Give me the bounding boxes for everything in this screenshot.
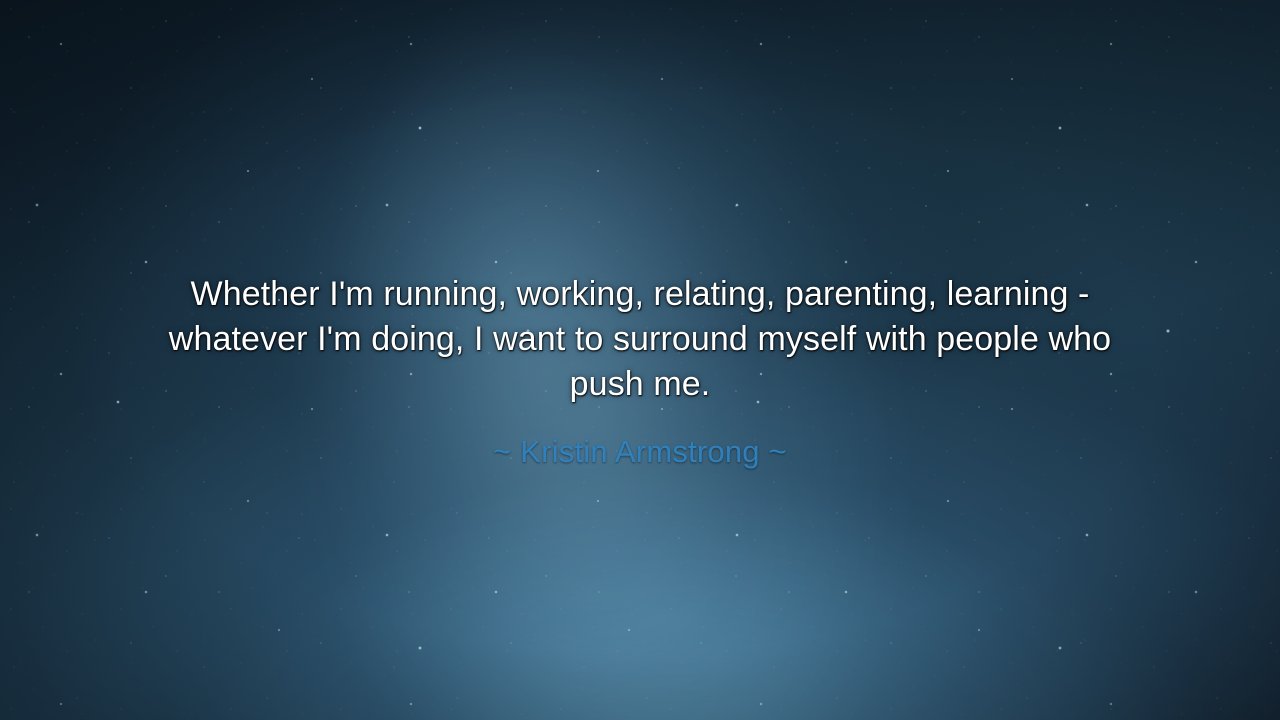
quote-line-3: push me.: [80, 362, 1200, 407]
quote-line-2: whatever I'm doing, I want to surround m…: [80, 317, 1200, 362]
quote-line-1: Whether I'm running, working, relating, …: [80, 272, 1200, 317]
quote-image-canvas: Whether I'm running, working, relating, …: [0, 0, 1280, 720]
quote-text: Whether I'm running, working, relating, …: [80, 272, 1200, 407]
quote-block: Whether I'm running, working, relating, …: [0, 272, 1280, 471]
quote-attribution: ~ Kristin Armstrong ~: [40, 433, 1240, 471]
